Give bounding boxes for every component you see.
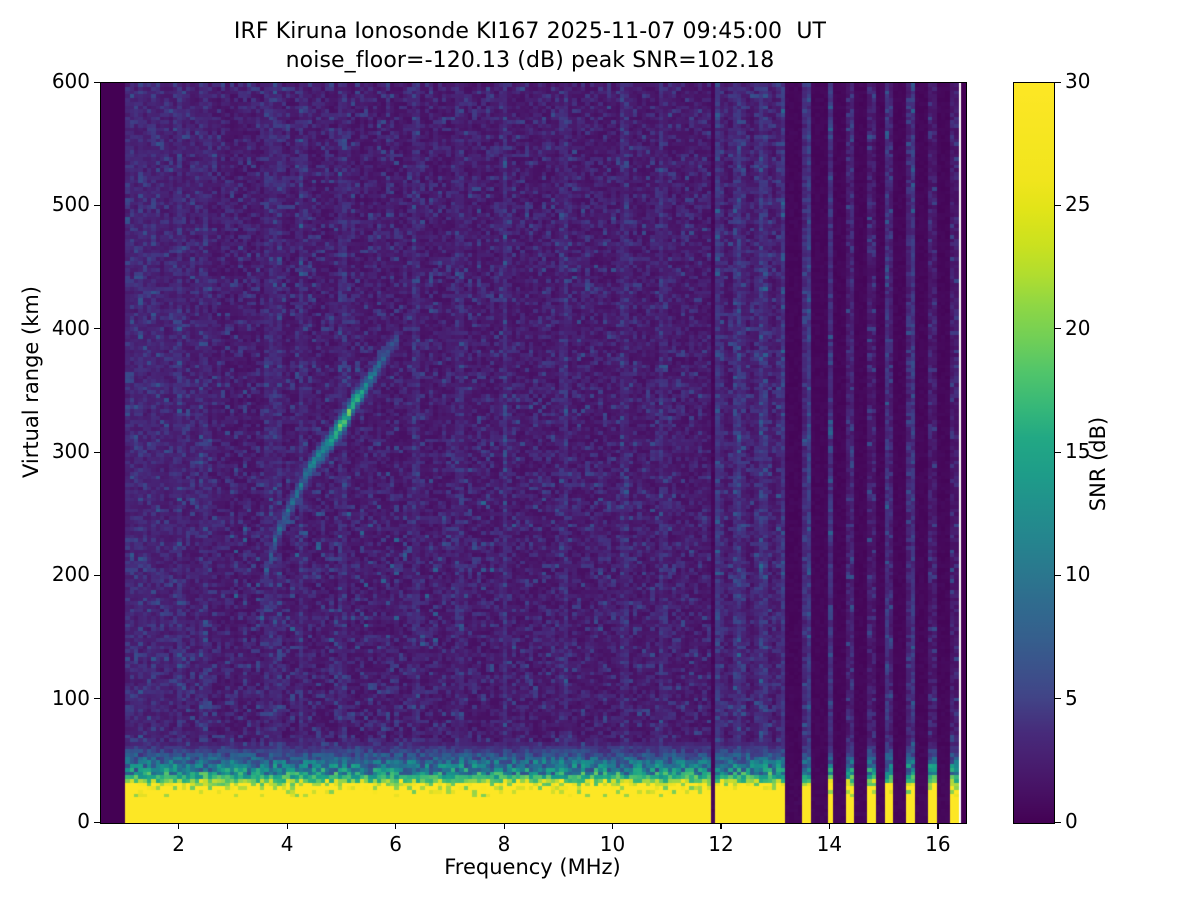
snr-colorbar[interactable] bbox=[1013, 82, 1055, 824]
colorbar-tick-label: 30 bbox=[1065, 69, 1090, 93]
colorbar-tick-mark bbox=[1055, 205, 1061, 206]
colorbar-tick-mark bbox=[1055, 698, 1061, 699]
colorbar-tick-mark bbox=[1055, 822, 1061, 823]
y-tick-label: 0 bbox=[2, 809, 90, 833]
x-tick-label: 10 bbox=[572, 832, 652, 856]
colorbar-tick-label: 5 bbox=[1065, 686, 1078, 710]
y-tick-label: 200 bbox=[2, 562, 90, 586]
ionogram-axes[interactable] bbox=[100, 82, 967, 824]
x-tick-label: 14 bbox=[789, 832, 869, 856]
colorbar-tick-mark bbox=[1055, 82, 1061, 83]
colorbar-label: SNR (dB) bbox=[1086, 314, 1110, 614]
colorbar-tick-label: 0 bbox=[1065, 809, 1078, 833]
plot-title-line-1: IRF Kiruna Ionosonde KI167 2025-11-07 09… bbox=[0, 18, 1060, 47]
y-tick-label: 100 bbox=[2, 686, 90, 710]
ionogram-heatmap[interactable] bbox=[101, 83, 966, 823]
colorbar-tick-mark bbox=[1055, 452, 1061, 453]
x-tick-label: 4 bbox=[247, 832, 327, 856]
plot-title-line-2: noise_floor=-120.13 (dB) peak SNR=102.18 bbox=[0, 47, 1060, 76]
y-tick-label: 300 bbox=[2, 439, 90, 463]
plot-title: IRF Kiruna Ionosonde KI167 2025-11-07 09… bbox=[0, 18, 1060, 75]
x-axis-label: Frequency (MHz) bbox=[100, 855, 965, 879]
x-tick-label: 2 bbox=[139, 832, 219, 856]
x-tick-label: 8 bbox=[464, 832, 544, 856]
figure-canvas: IRF Kiruna Ionosonde KI167 2025-11-07 09… bbox=[0, 0, 1200, 900]
y-tick-label: 500 bbox=[2, 192, 90, 216]
colorbar-tick-label: 25 bbox=[1065, 192, 1090, 216]
x-tick-label: 6 bbox=[356, 832, 436, 856]
x-tick-label: 12 bbox=[681, 832, 761, 856]
colorbar-tick-mark bbox=[1055, 575, 1061, 576]
y-tick-label: 400 bbox=[2, 316, 90, 340]
colorbar-tick-mark bbox=[1055, 328, 1061, 329]
y-axis-label: Virtual range (km) bbox=[19, 232, 43, 532]
x-tick-label: 16 bbox=[898, 832, 978, 856]
